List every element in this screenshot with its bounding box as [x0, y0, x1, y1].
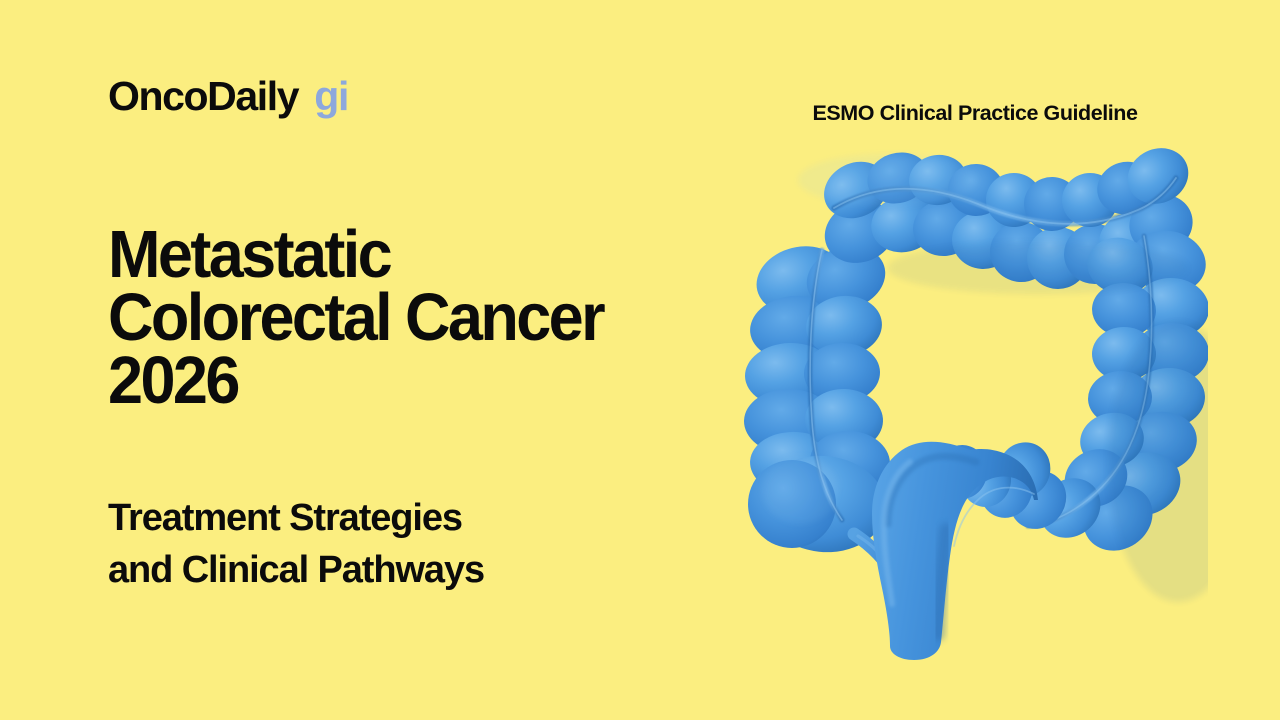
- page-title: Metastatic Colorectal Cancer 2026: [108, 222, 728, 411]
- subtitle-line-1: Treatment Strategies: [108, 492, 708, 544]
- brand-suffix: gi: [314, 76, 348, 117]
- headline-line-3: 2026: [108, 348, 728, 415]
- illustration-column: ESMO Clinical Practice Guideline: [740, 0, 1280, 720]
- text-column: OncoDaily gi Metastatic Colorectal Cance…: [108, 0, 748, 720]
- guideline-label: ESMO Clinical Practice Guideline: [740, 101, 1210, 126]
- sigmoid-rectum-group: [872, 434, 1078, 660]
- slide-root: OncoDaily gi Metastatic Colorectal Cance…: [0, 0, 1280, 720]
- subtitle-line-2: and Clinical Pathways: [108, 544, 708, 596]
- headline-line-1: Metastatic: [108, 222, 728, 289]
- page-subtitle: Treatment Strategies and Clinical Pathwa…: [108, 492, 708, 597]
- brand-logo: OncoDaily gi: [108, 76, 348, 117]
- headline-line-2: Colorectal Cancer: [108, 285, 728, 352]
- brand-name: OncoDaily: [108, 76, 298, 117]
- colon-illustration: [738, 132, 1208, 662]
